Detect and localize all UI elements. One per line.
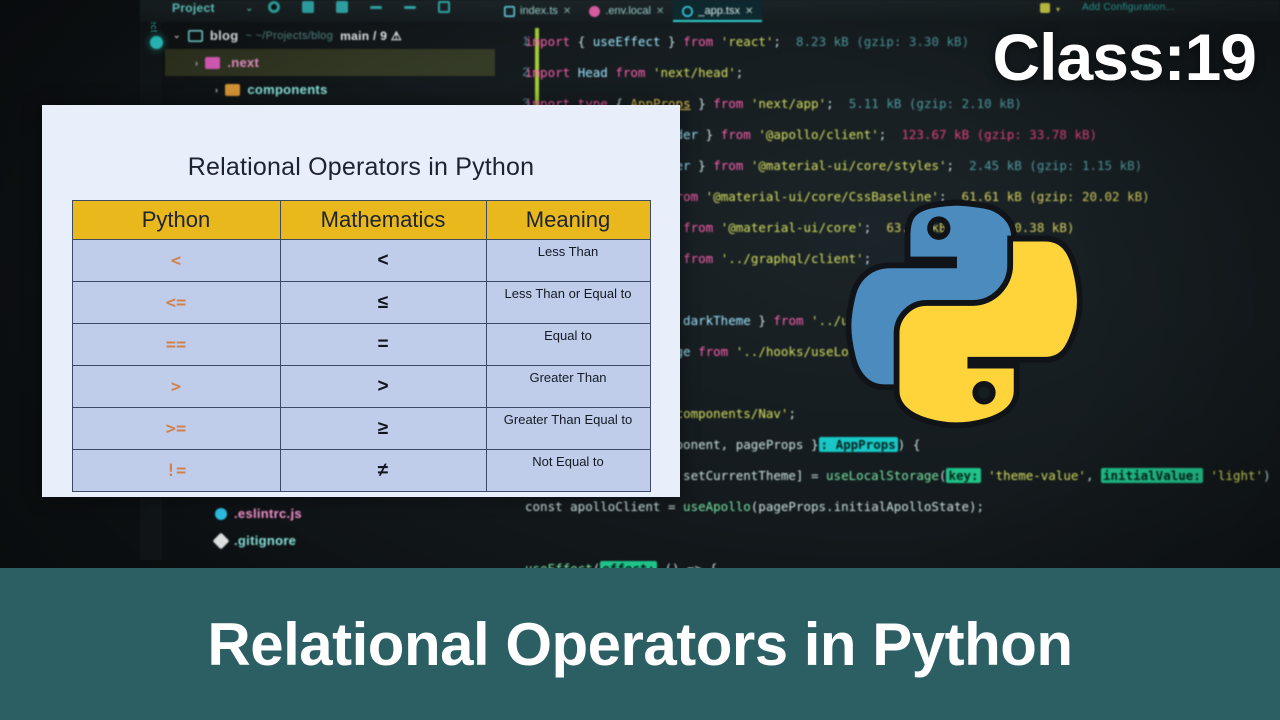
cell-python-operator: ==: [72, 324, 280, 366]
folder-outline-icon: [188, 30, 203, 42]
close-icon[interactable]: ✕: [656, 6, 664, 17]
diamond-white-icon: [213, 532, 230, 549]
file-tree-lower: .eslintrc.js .gitignore: [165, 500, 495, 554]
settings-ring-icon[interactable]: [268, 1, 280, 13]
toolbar-icons: [268, 1, 450, 13]
bundle-size: 2.45 kB (gzip: 1.15 kB): [969, 158, 1142, 173]
code-line: [525, 522, 1280, 553]
bottom-banner: Relational Operators in Python: [0, 568, 1280, 720]
slide-panel: Relational Operators in Python Python Ma…: [42, 105, 680, 497]
tree-item-components[interactable]: › components: [165, 76, 495, 103]
tree-item-label: .next: [227, 55, 259, 70]
cell-python-operator: !=: [72, 450, 280, 492]
cell-python-operator: <: [72, 240, 280, 282]
more-icon[interactable]: [370, 6, 382, 9]
rail-avatar-icon: [150, 36, 163, 49]
column-header-mathematics: Mathematics: [280, 201, 486, 240]
cell-meaning: Less Than or Equal to: [486, 282, 650, 324]
tab-label: index.ts: [520, 5, 558, 17]
folder-pink-icon: [205, 57, 220, 69]
cell-meaning: Not Equal to: [486, 450, 650, 492]
table-row: >= ≥ Greater Than Equal to: [72, 408, 650, 450]
cell-meaning: Greater Than Equal to: [486, 408, 650, 450]
class-number-label: Class:19: [992, 24, 1256, 90]
cell-meaning: Less Than: [486, 240, 650, 282]
tree-item-gitignore[interactable]: .gitignore: [165, 527, 495, 554]
table-row: > > Greater Than: [72, 366, 650, 408]
cell-python-operator: >: [72, 366, 280, 408]
bundle-size: 123.67 kB (gzip: 33.78 kB): [901, 127, 1097, 142]
cell-meaning: Greater Than: [486, 366, 650, 408]
folder-orange-icon: [225, 84, 240, 96]
banner-title: Relational Operators in Python: [207, 610, 1072, 679]
react-icon: [682, 6, 693, 17]
tree-item-path: ~ ~/Projects/blog: [245, 30, 333, 42]
table-header-row: Python Mathematics Meaning: [72, 201, 650, 240]
column-header-meaning: Meaning: [486, 201, 650, 240]
screenshot-root: Project Project ⌄ ▾ Add Configuration...…: [0, 0, 1280, 720]
tree-item-next[interactable]: › .next: [165, 49, 495, 76]
cell-math-symbol: ≥: [280, 408, 486, 450]
relational-operators-table: Python Mathematics Meaning < < Less Than…: [72, 200, 651, 492]
table-row: <= ≤ Less Than or Equal to: [72, 282, 650, 324]
column-header-python: Python: [72, 201, 280, 240]
chevron-right-icon[interactable]: ›: [195, 58, 198, 68]
table-row: == = Equal to: [72, 324, 650, 366]
table-row: < < Less Than: [72, 240, 650, 282]
typescript-icon: [504, 6, 515, 17]
cell-math-symbol: <: [280, 240, 486, 282]
chevron-down-icon[interactable]: ⌄: [173, 30, 181, 41]
bundle-size: 8.23 kB (gzip: 3.30 kB): [796, 34, 969, 49]
tree-item-label: .gitignore: [234, 533, 296, 548]
cell-math-symbol: >: [280, 366, 486, 408]
list-icon[interactable]: [438, 1, 450, 13]
git-branch-status: main / 9 ⚠: [340, 29, 402, 43]
tab-label: .env.local: [605, 5, 651, 17]
minimize-icon[interactable]: [404, 6, 416, 9]
env-icon: [589, 6, 600, 17]
dot-blue-icon: [215, 508, 227, 520]
tab-index-ts[interactable]: index.ts ✕: [495, 0, 580, 22]
sync-icon[interactable]: [302, 1, 314, 13]
project-title[interactable]: Project: [172, 1, 215, 15]
tree-item-label: blog: [210, 28, 239, 43]
branch-icon[interactable]: [336, 1, 348, 13]
chevron-right-icon[interactable]: ›: [215, 85, 218, 95]
tree-item-blog[interactable]: ⌄ blog ~ ~/Projects/blog main / 9 ⚠: [165, 22, 495, 49]
close-icon[interactable]: ✕: [745, 6, 753, 17]
tab-app-tsx[interactable]: _app.tsx ✕: [673, 0, 762, 22]
cell-meaning: Equal to: [486, 324, 650, 366]
cell-math-symbol: =: [280, 324, 486, 366]
tree-item-label: .eslintrc.js: [234, 506, 302, 521]
tab-env-local[interactable]: .env.local ✕: [580, 0, 673, 22]
cell-math-symbol: ≤: [280, 282, 486, 324]
bundle-size: 5.11 kB (gzip: 2.10 kB): [849, 96, 1022, 111]
editor-tabs: index.ts ✕ .env.local ✕ _app.tsx ✕: [495, 0, 1280, 22]
python-logo: [838, 188, 1092, 434]
cell-python-operator: <=: [72, 282, 280, 324]
tree-item-eslintrc[interactable]: .eslintrc.js: [165, 500, 495, 527]
tab-label: _app.tsx: [698, 5, 740, 17]
cell-math-symbol: ≠: [280, 450, 486, 492]
tree-item-label: components: [247, 82, 327, 97]
table-row: != ≠ Not Equal to: [72, 450, 650, 492]
slide-title: Relational Operators in Python: [42, 153, 680, 182]
close-icon[interactable]: ✕: [563, 6, 571, 17]
chevron-down-icon[interactable]: ⌄: [245, 3, 253, 14]
cell-python-operator: >=: [72, 408, 280, 450]
